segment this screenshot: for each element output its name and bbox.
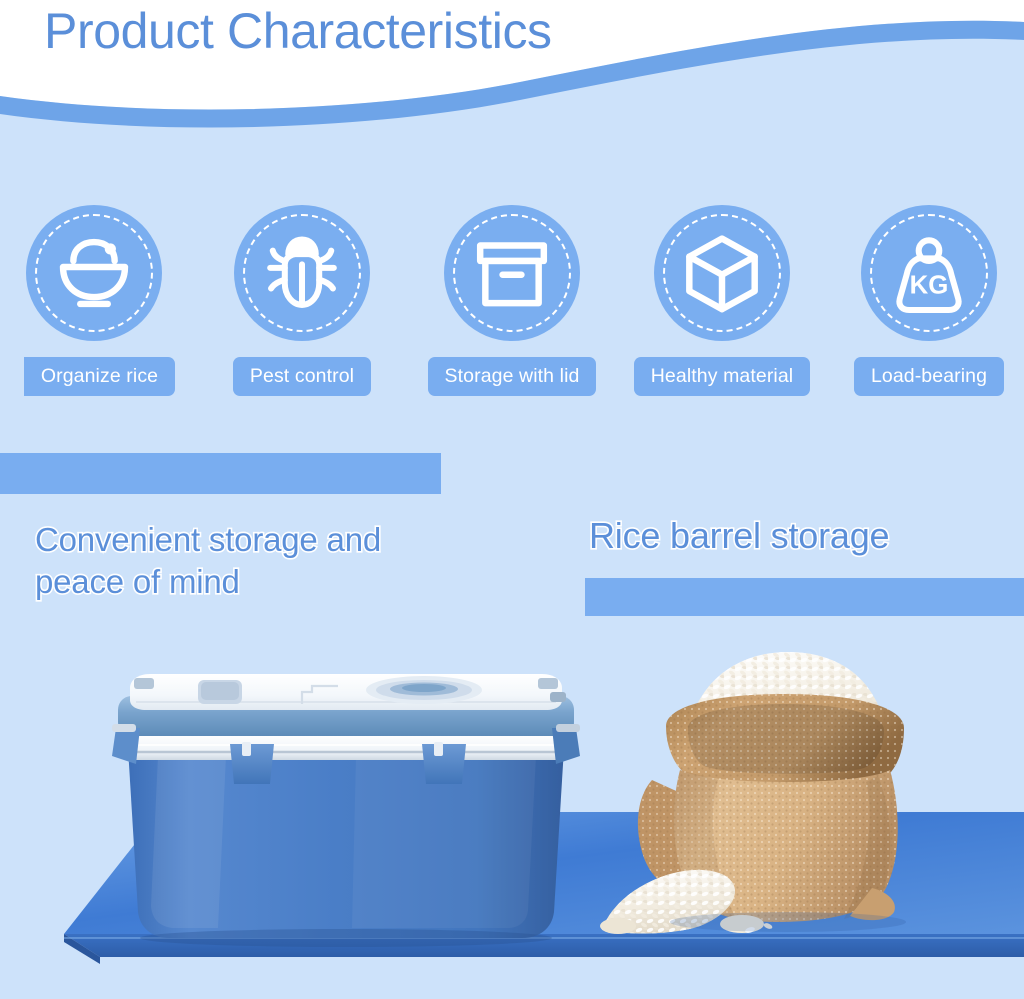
rice-bowl-icon [26,205,162,341]
page-title: Product Characteristics [44,2,552,60]
beetle-bug-icon [234,205,370,341]
rice-bowl-glyph [51,230,137,316]
left-section-headline: Convenient storage and peace of mind [35,519,455,603]
feature-label: Organize rice [24,357,175,396]
right-accent-bar [585,578,1024,616]
feature-item-organize-rice[interactable]: Organize rice [0,205,199,396]
feature-label: Load-bearing [854,357,1004,396]
beetle-bug-glyph [259,230,345,316]
feature-item-storage-with-lid[interactable]: Storage with lid [407,205,617,396]
weight-kg-icon: KG [861,205,997,341]
burlap-sack-of-rice [592,630,992,950]
product-photo-scene [0,612,1024,999]
feature-label: Pest control [233,357,371,396]
feature-label: Storage with lid [428,357,597,396]
feature-item-load-bearing[interactable]: KG Load-bearing [824,205,1024,396]
feature-list: Organize rice [0,205,1024,405]
cube-icon [654,205,790,341]
cube-glyph [679,230,765,316]
right-section-headline: Rice barrel storage [589,515,1024,557]
left-accent-bar [0,453,441,494]
weight-kg-glyph: KG [886,230,972,316]
weight-icon-text: KG [910,272,949,300]
product-characteristics-infographic: Product Characteristics Organize rice [0,0,1024,999]
feature-label: Healthy material [634,357,811,396]
storage-box-icon [444,205,580,341]
blue-rice-storage-container [106,660,586,960]
storage-box-glyph [469,230,555,316]
feature-item-healthy-material[interactable]: Healthy material [617,205,827,396]
feature-item-pest-control[interactable]: Pest control [197,205,407,396]
